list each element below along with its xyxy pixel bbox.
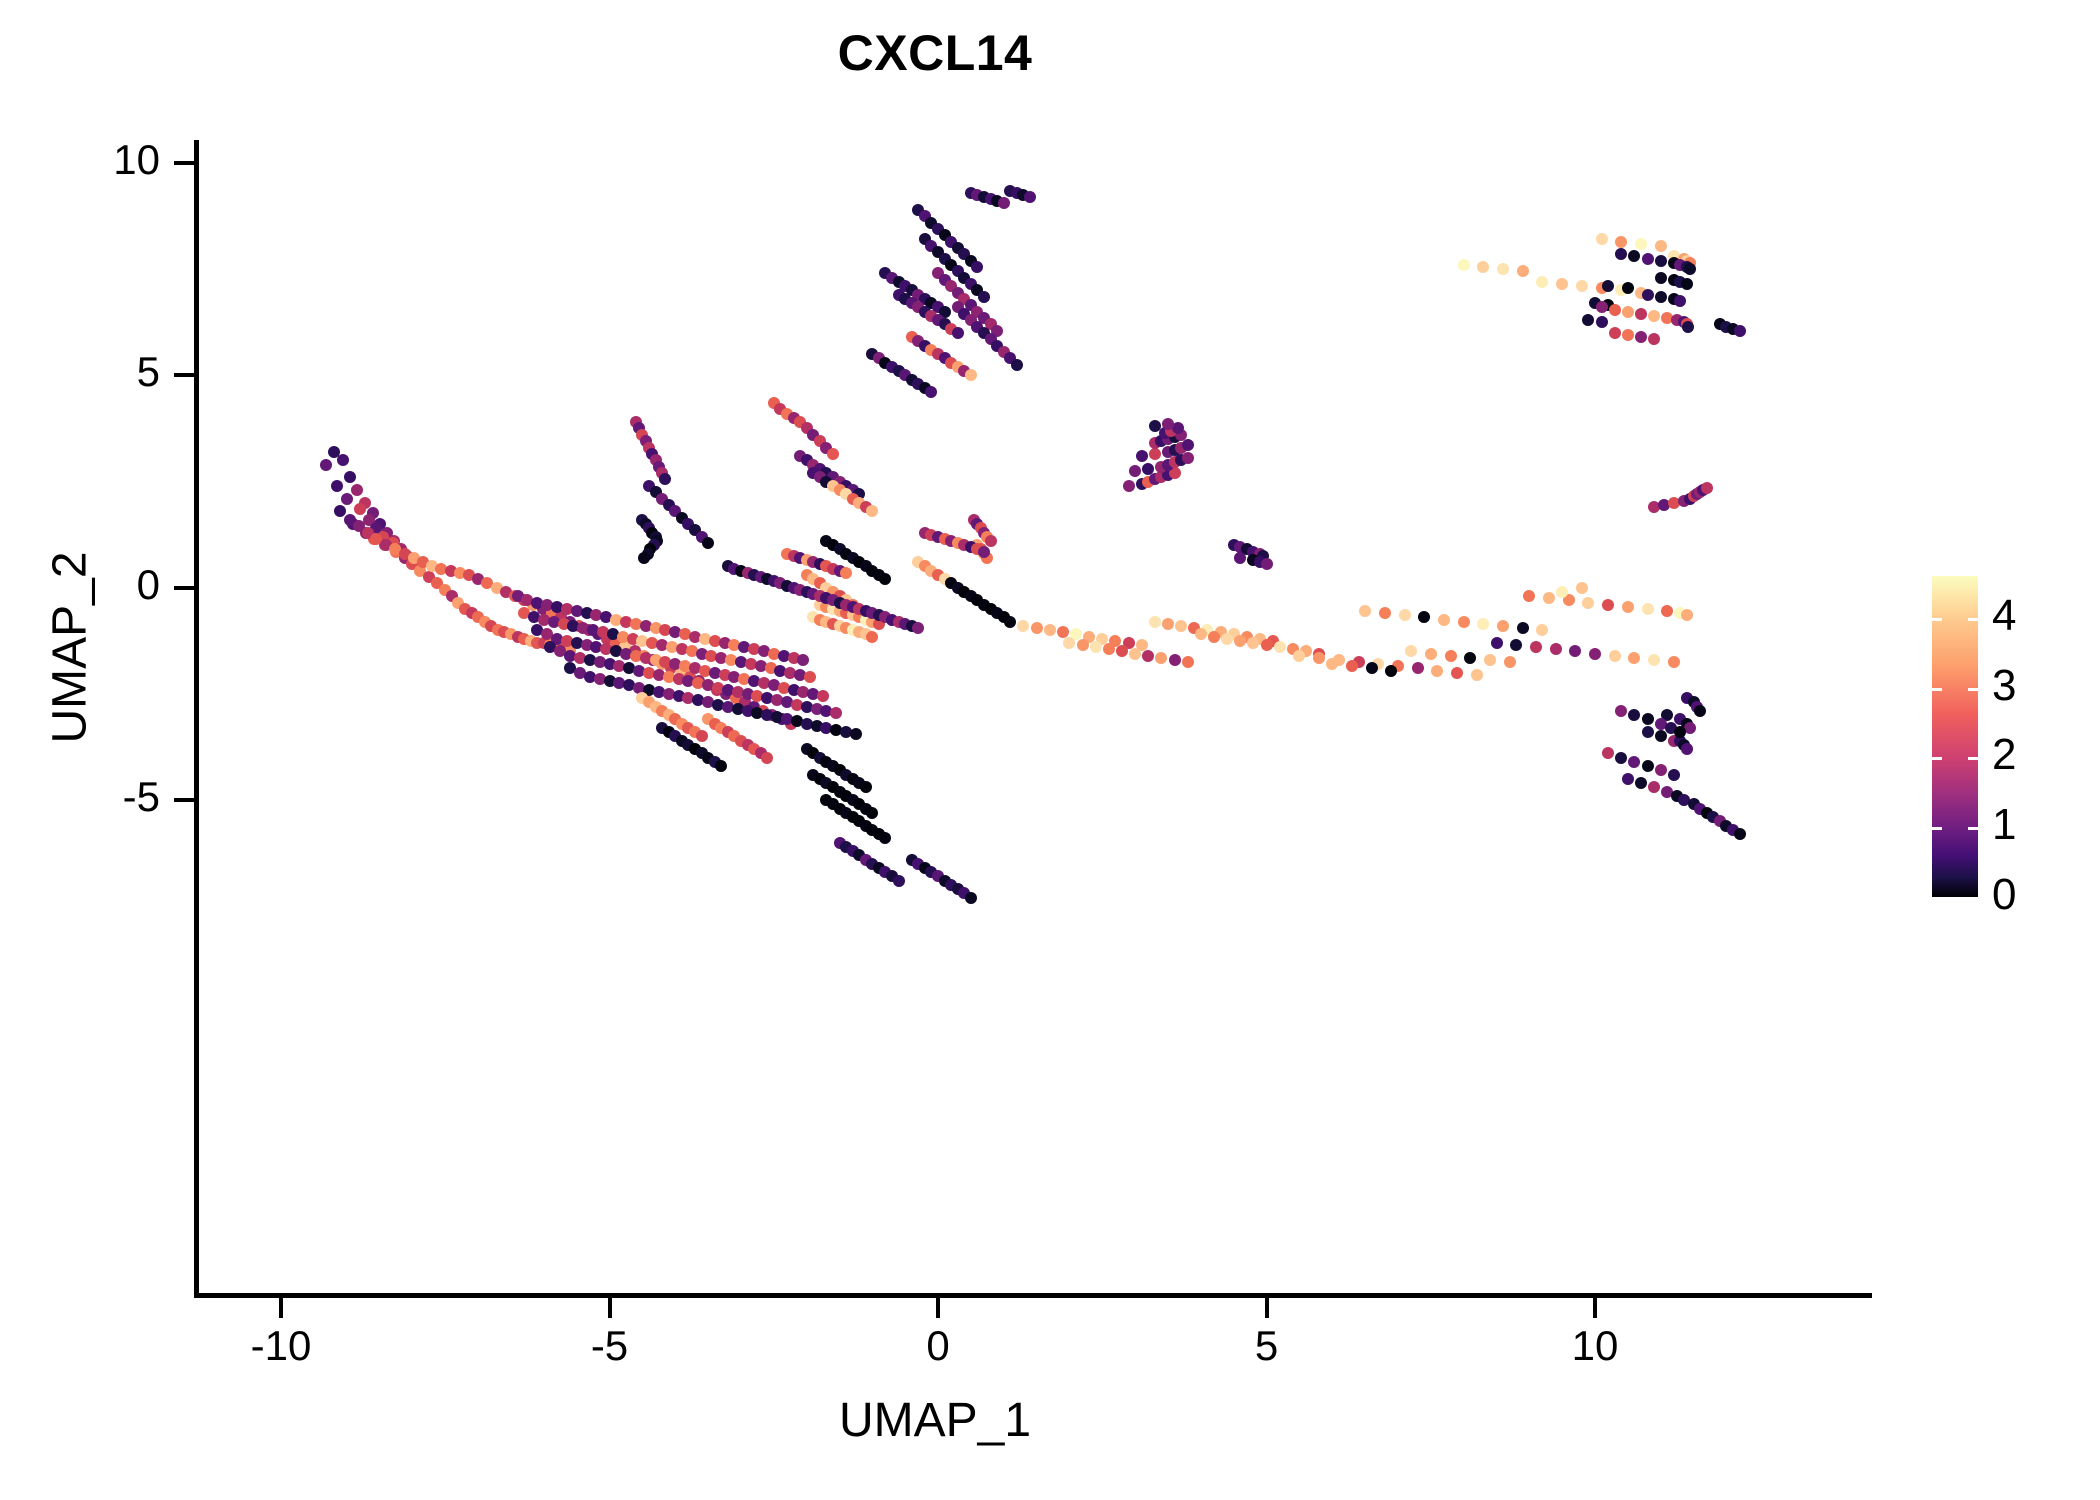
- scatter-point: [1405, 645, 1417, 657]
- scatter-point: [1103, 643, 1115, 655]
- x-tick-label: 5: [1167, 1322, 1367, 1370]
- scatter-point: [1385, 665, 1397, 677]
- scatter-point: [1477, 618, 1489, 630]
- scatter-point: [1412, 662, 1424, 674]
- scatter-point: [1517, 265, 1529, 277]
- y-tick-mark: [174, 798, 194, 802]
- scatter-point: [1464, 652, 1476, 664]
- scatter-point: [702, 537, 714, 549]
- colorbar-tick-mark: [1968, 688, 1978, 691]
- scatter-point: [1648, 333, 1660, 345]
- scatter-point: [1208, 631, 1220, 643]
- scatter-point: [965, 369, 977, 381]
- colorbar-tick-label: 3: [1992, 661, 2016, 711]
- scatter-point: [1681, 743, 1693, 755]
- y-tick-mark: [174, 586, 194, 590]
- scatter-point: [354, 503, 366, 515]
- colorbar-tick-label: 0: [1992, 870, 2016, 920]
- scatter-point: [879, 573, 891, 585]
- scatter-point: [331, 480, 343, 492]
- scatter-point: [879, 832, 891, 844]
- umap-feature-plot: CXCL14 -10-50510 1050-5 UMAP_1 UMAP_2 43…: [0, 0, 2100, 1500]
- colorbar-tick-mark: [1932, 757, 1942, 760]
- scatter-point: [1491, 637, 1503, 649]
- colorbar-ticks: 43210: [1932, 576, 1978, 897]
- colorbar-tick-mark: [1932, 827, 1942, 830]
- scatter-point: [1635, 331, 1647, 343]
- scatter-point: [1155, 652, 1167, 664]
- colorbar-tick-mark: [1968, 757, 1978, 760]
- y-tick-label: 10: [0, 136, 160, 184]
- scatter-point: [1451, 667, 1463, 679]
- scatter-point: [1221, 633, 1233, 645]
- scatter-point: [1234, 635, 1246, 647]
- scatter-point: [1359, 605, 1371, 617]
- scatter-point: [1655, 255, 1667, 267]
- scatter-point: [893, 875, 905, 887]
- scatter-point: [1431, 665, 1443, 677]
- scatter-point: [1523, 590, 1535, 602]
- scatter-point: [1622, 306, 1634, 318]
- scatter-point: [1655, 240, 1667, 252]
- scatter-point: [866, 807, 878, 819]
- scatter-point: [1425, 648, 1437, 660]
- scatter-point: [1169, 654, 1181, 666]
- scatter-point: [638, 552, 650, 564]
- scatter-point: [1556, 278, 1568, 290]
- scatter-point: [1399, 609, 1411, 621]
- scatter-point: [1582, 314, 1594, 326]
- x-tick-mark: [1593, 1298, 1597, 1318]
- scatter-point: [1031, 622, 1043, 634]
- y-tick-label: 5: [0, 348, 160, 396]
- scatter-point: [1655, 272, 1667, 284]
- scatter-point: [817, 690, 829, 702]
- scatter-point: [1261, 639, 1273, 651]
- page-title: CXCL14: [0, 24, 1870, 82]
- scatter-point: [1149, 420, 1161, 432]
- y-tick-mark: [174, 373, 194, 377]
- scatter-point: [1642, 253, 1654, 265]
- scatter-point: [1609, 327, 1621, 339]
- x-tick-mark: [936, 1298, 940, 1318]
- scatter-point: [1668, 769, 1680, 781]
- colorbar-tick-label: 4: [1992, 591, 2016, 641]
- scatter-point: [1497, 620, 1509, 632]
- x-tick-label: -5: [510, 1322, 710, 1370]
- scatter-point: [1615, 752, 1627, 764]
- scatter-point: [1674, 295, 1686, 307]
- scatter-point: [1142, 463, 1154, 475]
- scatter-point: [1642, 289, 1654, 301]
- scatter-point: [1648, 781, 1660, 793]
- colorbar-tick-mark: [1932, 618, 1942, 621]
- scatter-point: [1655, 730, 1667, 742]
- scatter-point: [761, 752, 773, 764]
- scatter-point: [1024, 191, 1036, 203]
- scatter-point: [1142, 650, 1154, 662]
- scatter-point: [1681, 278, 1693, 290]
- scatter-point: [1668, 656, 1680, 668]
- scatter-point: [1261, 558, 1273, 570]
- scatter-point: [830, 707, 842, 719]
- x-axis-line: [194, 1293, 1872, 1298]
- scatter-point: [1622, 601, 1634, 613]
- scatter-point: [1326, 658, 1338, 670]
- scatter-point: [1293, 650, 1305, 662]
- scatter-point: [1602, 747, 1614, 759]
- scatter-point: [1576, 582, 1588, 594]
- scatter-point: [1609, 304, 1621, 316]
- x-tick-label: 10: [1495, 1322, 1695, 1370]
- scatter-point: [1017, 620, 1029, 632]
- scatter-point: [1576, 280, 1588, 292]
- scatter-point: [1175, 620, 1187, 632]
- scatter-point: [1569, 645, 1581, 657]
- scatter-point: [1379, 607, 1391, 619]
- scatter-point: [978, 546, 990, 558]
- scatter-points-layer: [198, 143, 1870, 1295]
- scatter-point: [1622, 773, 1634, 785]
- scatter-point: [1622, 329, 1634, 341]
- scatter-point: [1313, 652, 1325, 664]
- scatter-point: [1734, 325, 1746, 337]
- scatter-point: [952, 327, 964, 339]
- scatter-point: [659, 473, 671, 485]
- colorbar-tick-label: 1: [1992, 800, 2016, 850]
- scatter-point: [1129, 465, 1141, 477]
- scatter-point: [1471, 669, 1483, 681]
- scatter-point: [320, 459, 332, 471]
- scatter-point: [1642, 760, 1654, 772]
- scatter-point: [1458, 259, 1470, 271]
- scatter-point: [1701, 482, 1713, 494]
- scatter-point: [1635, 777, 1647, 789]
- scatter-point: [1628, 652, 1640, 664]
- colorbar-tick-mark: [1968, 827, 1978, 830]
- scatter-point: [1682, 321, 1694, 333]
- scatter-point: [344, 471, 356, 483]
- scatter-point: [1615, 248, 1627, 260]
- scatter-point: [912, 622, 924, 634]
- scatter-point: [1642, 726, 1654, 738]
- scatter-point: [925, 386, 937, 398]
- scatter-point: [351, 484, 363, 496]
- scatter-point: [1063, 637, 1075, 649]
- scatter-point: [1458, 616, 1470, 628]
- scatter-point: [840, 567, 852, 579]
- plot-panel: [198, 143, 1870, 1295]
- scatter-point: [1445, 650, 1457, 662]
- scatter-point: [1609, 650, 1621, 662]
- scatter-point: [1530, 641, 1542, 653]
- scatter-point: [1596, 301, 1608, 313]
- scatter-point: [985, 535, 997, 547]
- scatter-point: [850, 728, 862, 740]
- scatter-point: [1162, 618, 1174, 630]
- scatter-point: [827, 448, 839, 460]
- x-tick-label: -10: [181, 1322, 381, 1370]
- scatter-point: [804, 671, 816, 683]
- x-axis-title: UMAP_1: [0, 1393, 1870, 1448]
- scatter-point: [337, 454, 349, 466]
- scatter-point: [1684, 263, 1696, 275]
- colorbar-tick-mark: [1932, 897, 1942, 900]
- scatter-point: [1589, 648, 1601, 660]
- scatter-point: [1615, 705, 1627, 717]
- scatter-point: [1628, 709, 1640, 721]
- y-axis-title: UMAP_2: [43, 398, 98, 898]
- scatter-point: [1011, 359, 1023, 371]
- scatter-point: [978, 291, 990, 303]
- scatter-point: [1123, 480, 1135, 492]
- scatter-point: [1543, 592, 1555, 604]
- x-tick-mark: [1265, 1298, 1269, 1318]
- scatter-point: [866, 631, 878, 643]
- scatter-point: [1366, 662, 1378, 674]
- y-axis-line: [194, 140, 199, 1298]
- scatter-point: [1149, 616, 1161, 628]
- scatter-point: [1681, 609, 1693, 621]
- scatter-point: [1077, 639, 1089, 651]
- scatter-point: [860, 781, 872, 793]
- scatter-point: [1655, 291, 1667, 303]
- scatter-point: [1346, 660, 1358, 672]
- scatter-point: [1635, 238, 1647, 250]
- scatter-point: [715, 760, 727, 772]
- scatter-point: [1274, 641, 1286, 653]
- scatter-point: [1536, 624, 1548, 636]
- scatter-point: [1116, 645, 1128, 657]
- scatter-point: [1247, 637, 1259, 649]
- scatter-point: [1622, 282, 1634, 294]
- scatter-point: [1418, 611, 1430, 623]
- scatter-point: [1628, 756, 1640, 768]
- colorbar-tick-mark: [1968, 897, 1978, 900]
- scatter-point: [1484, 654, 1496, 666]
- scatter-point: [965, 892, 977, 904]
- scatter-point: [1504, 656, 1516, 668]
- scatter-point: [1129, 648, 1141, 660]
- scatter-point: [1195, 628, 1207, 640]
- scatter-point: [1438, 614, 1450, 626]
- scatter-point: [1648, 310, 1660, 322]
- scatter-point: [1655, 764, 1667, 776]
- scatter-point: [1648, 654, 1660, 666]
- scatter-point: [1497, 263, 1509, 275]
- scatter-point: [1734, 828, 1746, 840]
- scatter-point: [1602, 599, 1614, 611]
- scatter-point: [1635, 308, 1647, 320]
- scatter-point: [1136, 450, 1148, 462]
- scatter-point: [1642, 713, 1654, 725]
- scatter-point: [1510, 639, 1522, 651]
- scatter-point: [1182, 439, 1194, 451]
- scatter-point: [1149, 448, 1161, 460]
- scatter-point: [1182, 452, 1194, 464]
- scatter-point: [1596, 316, 1608, 328]
- scatter-point: [971, 261, 983, 273]
- x-tick-label: 0: [838, 1322, 1038, 1370]
- scatter-point: [1596, 233, 1608, 245]
- scatter-point: [1615, 236, 1627, 248]
- y-tick-mark: [174, 161, 194, 165]
- scatter-point: [341, 493, 353, 505]
- scatter-point: [1661, 605, 1673, 617]
- scatter-point: [998, 197, 1010, 209]
- scatter-point: [1536, 276, 1548, 288]
- scatter-point: [1628, 250, 1640, 262]
- scatter-point: [1044, 624, 1056, 636]
- scatter-point: [797, 654, 809, 666]
- scatter-point: [696, 730, 708, 742]
- colorbar-tick-mark: [1932, 688, 1942, 691]
- scatter-point: [1694, 705, 1706, 717]
- scatter-point: [1234, 552, 1246, 564]
- scatter-point: [1602, 280, 1614, 292]
- scatter-point: [1004, 616, 1016, 628]
- scatter-point: [1477, 261, 1489, 273]
- scatter-point: [1642, 603, 1654, 615]
- x-tick-mark: [279, 1298, 283, 1318]
- colorbar-tick-label: 2: [1992, 730, 2016, 780]
- scatter-point: [1556, 586, 1568, 598]
- scatter-point: [866, 505, 878, 517]
- scatter-point: [1582, 597, 1594, 609]
- scatter-point: [1517, 622, 1529, 634]
- scatter-point: [1090, 641, 1102, 653]
- colorbar-tick-mark: [1968, 618, 1978, 621]
- scatter-point: [1182, 656, 1194, 668]
- scatter-point: [1684, 722, 1696, 734]
- x-tick-mark: [608, 1298, 612, 1318]
- scatter-point: [1550, 643, 1562, 655]
